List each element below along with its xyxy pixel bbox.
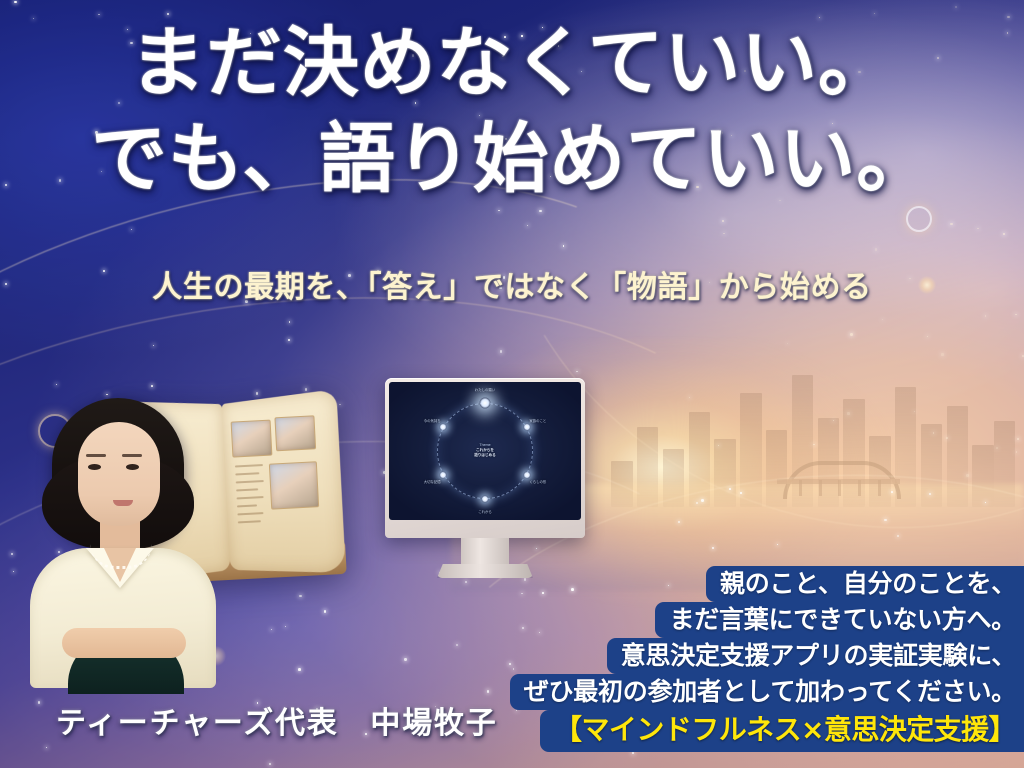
constellation-node-label: わたしの願い (475, 388, 495, 392)
portrait-eye (126, 464, 139, 470)
constellation-diagram: わたしの願い家族のことくらしの形これから大切な記憶今の気持ち Theme これか… (437, 403, 533, 499)
skyline-building (637, 427, 659, 507)
constellation-node-label: 家族のこと (529, 418, 546, 422)
light-ring (906, 206, 932, 232)
skyline-building (994, 421, 1016, 507)
bokeh-light (672, 610, 694, 632)
book-image (269, 461, 319, 509)
monitor-bezel: わたしの願い家族のことくらしの形これから大切な記憶今の気持ち Theme これか… (385, 378, 585, 538)
constellation-node-label: 大切な記憶 (424, 479, 441, 483)
portrait-face (78, 422, 160, 526)
constellation-node[interactable] (523, 424, 530, 431)
constellation-node[interactable] (440, 424, 447, 431)
bridge-post (838, 480, 841, 496)
monitor-screen[interactable]: わたしの願い家族のことくらしの形これから大切な記憶今の気持ち Theme これか… (389, 382, 581, 520)
portrait-eyebrow (122, 454, 142, 457)
skyline-building (663, 449, 685, 507)
bridge-post (878, 480, 881, 496)
promo-banner: まだ決めなくていい。 でも、語り始めていい。 人生の最期を、「答え」ではなく「物… (0, 0, 1024, 768)
portrait-arms (62, 628, 186, 658)
skyline-building (714, 439, 736, 507)
bridge-post (799, 480, 802, 496)
portrait-eye (88, 464, 101, 470)
constellation-node[interactable] (482, 496, 489, 503)
constellation-node-label: くらしの形 (529, 479, 546, 483)
portrait-eyebrow (86, 454, 106, 457)
book-image (274, 415, 316, 451)
portrait-mouth (113, 500, 133, 506)
skyline-building (972, 445, 994, 506)
constellation-center-text: Theme これからを 語りはじめる (474, 443, 496, 459)
constellation-node[interactable] (440, 472, 447, 479)
presenter-portrait (24, 398, 222, 688)
monitor-base (437, 564, 533, 578)
skyline-building (921, 424, 943, 507)
constellation-node-label: これから (478, 510, 492, 514)
skyline-building (947, 406, 969, 507)
center-text-sub: 語りはじめる (474, 454, 496, 459)
bokeh-light (918, 276, 936, 294)
constellation-node[interactable] (480, 398, 491, 409)
constellation-node[interactable] (523, 472, 530, 479)
bridge-post (858, 480, 861, 496)
constellation-node-label: 今の気持ち (424, 418, 441, 422)
bridge-illustration (783, 465, 893, 499)
bridge-post (819, 480, 822, 496)
monitor-neck (461, 538, 509, 564)
book-image (231, 420, 273, 458)
skyline-building (740, 393, 762, 507)
skyline-building (611, 461, 633, 507)
skyline-building (689, 412, 711, 507)
